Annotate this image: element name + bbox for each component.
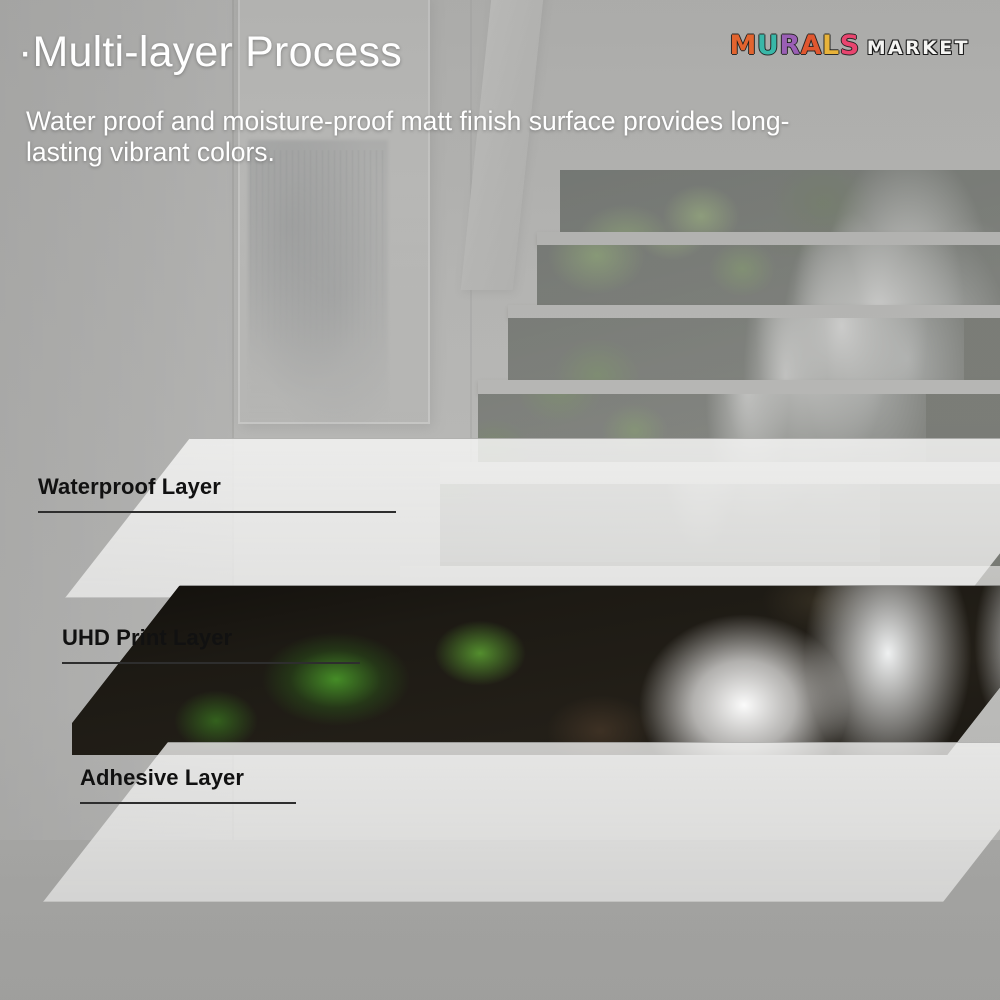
layer-rule-waterproof	[38, 511, 396, 513]
layer-callout-adhesive: Adhesive Layer	[80, 765, 296, 804]
brand-logo-murals: MURALS	[730, 32, 860, 59]
layer-label-waterproof: Waterproof Layer	[38, 474, 396, 500]
stair-riser-1	[560, 170, 1000, 232]
brand-logo[interactable]: MURALS MARKET	[730, 32, 971, 59]
uhd-print-layer-sheet	[47, 585, 1000, 755]
stair-nosing-1	[537, 232, 1000, 245]
page-subtitle: Water proof and moisture-proof matt fini…	[26, 106, 826, 169]
layer-callout-uhd: UHD Print Layer	[62, 625, 360, 664]
page-title: ·Multi-layer Process	[18, 28, 402, 77]
layer-rule-uhd	[62, 662, 360, 664]
layer-label-adhesive: Adhesive Layer	[80, 765, 296, 791]
stair-nosing-2	[508, 305, 1000, 318]
waterproof-layer-sheet	[65, 438, 1000, 598]
brand-logo-letter-s: S	[840, 30, 860, 61]
uhd-print-layer-artwork	[72, 585, 1000, 755]
stair-riser-2	[537, 245, 1000, 305]
brand-logo-letter-r: R	[779, 30, 800, 61]
brand-logo-letter-u: U	[757, 30, 779, 61]
brand-logo-letter-l: L	[822, 30, 840, 61]
stair-riser-3	[508, 318, 1000, 380]
brand-logo-letter-m: M	[730, 30, 757, 61]
layer-rule-adhesive	[80, 802, 296, 804]
layer-callout-waterproof: Waterproof Layer	[38, 474, 396, 513]
layer-label-uhd: UHD Print Layer	[62, 625, 360, 651]
brand-logo-letter-a: A	[801, 30, 822, 61]
brand-logo-market: MARKET	[867, 39, 970, 58]
product-infographic: ·Multi-layer Process Water proof and moi…	[0, 0, 1000, 1000]
stair-nosing-3	[478, 380, 1000, 394]
